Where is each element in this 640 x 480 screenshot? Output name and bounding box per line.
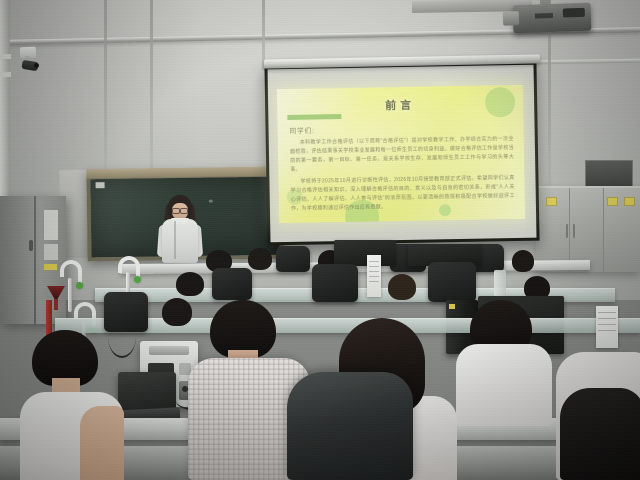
student-head	[162, 298, 192, 326]
student-shoulder	[80, 406, 124, 480]
funnel-cone	[47, 286, 65, 300]
pipe-band-1	[0, 54, 11, 59]
cabinet-label	[624, 197, 635, 206]
cabinet-plate	[44, 244, 58, 260]
backpack	[312, 264, 358, 302]
warning-label	[44, 264, 57, 270]
sign-line	[598, 324, 616, 325]
printer[interactable]	[118, 372, 176, 416]
glasses-icon	[172, 208, 188, 212]
student-head	[248, 248, 272, 270]
student-head	[388, 274, 416, 300]
backpack	[428, 262, 476, 302]
monitor	[334, 240, 396, 266]
sign-line	[369, 261, 379, 262]
slide-paragraph: 学校将于2025年10月进行诊断性评估，2026年10月接受教育部正式评估。希望…	[290, 174, 515, 214]
student-head	[176, 272, 204, 296]
sign-line	[369, 281, 379, 282]
faucet-spout	[118, 256, 140, 273]
projector-icon	[513, 3, 592, 34]
power-cable	[108, 316, 136, 358]
blackboard-tag	[96, 182, 105, 188]
instructor-shirt	[162, 219, 198, 263]
cabinet-plate	[44, 210, 58, 240]
cabinet-label	[607, 197, 618, 206]
instructor	[157, 195, 203, 267]
faucet-spout	[60, 260, 82, 277]
student-front-dark-jacket	[287, 372, 413, 480]
projected-slide: 前言 同学们: 本科教学工作合格评估（以下简称“合格评估”）是对学校教学工作、办…	[277, 85, 525, 223]
instructor-placket	[174, 221, 176, 259]
cabinet-handle[interactable]	[566, 224, 568, 238]
funnel-tube	[54, 299, 58, 310]
instrument-lid	[149, 346, 189, 355]
faucet-valve[interactable]	[134, 276, 141, 283]
projection-screen: 前言 同学们: 本科教学工作合格评估（以下简称“合格评估”）是对学校教学工作、办…	[264, 61, 539, 246]
sign-line	[598, 318, 616, 319]
pipe-band-2	[0, 72, 11, 77]
cabinet-handle[interactable]	[29, 240, 33, 251]
paper-sign	[596, 306, 618, 348]
wall-seam-2	[150, 0, 153, 175]
cabinet-handle[interactable]	[573, 224, 575, 238]
slide-paragraph: 本科教学工作合格评估（以下简称“合格评估”）是对学校教学工作、办学综合实力的一次…	[290, 135, 515, 175]
student-torso	[456, 344, 552, 426]
faucet-spout	[74, 302, 96, 319]
faucet-valve[interactable]	[76, 282, 83, 289]
sign-line	[598, 312, 616, 313]
pc-badge	[449, 304, 455, 309]
slide-accent-bar	[287, 114, 341, 120]
backpack	[212, 268, 252, 300]
sign-line	[369, 271, 379, 272]
cabinet-seam	[34, 196, 36, 324]
slide-body: 同学们: 本科教学工作合格评估（以下简称“合格评估”）是对学校教学工作、办学综合…	[289, 121, 515, 217]
faucet-stem	[68, 278, 72, 312]
cabinet-label	[546, 197, 557, 206]
sign-line	[369, 266, 379, 267]
backpack	[276, 246, 310, 272]
separatory-funnel	[47, 286, 65, 310]
sign-line	[369, 276, 379, 277]
chalk-mark	[209, 200, 213, 203]
student-front-right-dark	[560, 388, 640, 480]
sign-line	[598, 330, 616, 331]
camera-lens-icon	[34, 63, 39, 68]
student-head	[512, 250, 534, 272]
paper-sign	[367, 255, 381, 297]
classroom-photo: 前言 同学们: 本科教学工作合格评估（以下简称“合格评估”）是对学校教学工作、办…	[0, 0, 640, 480]
